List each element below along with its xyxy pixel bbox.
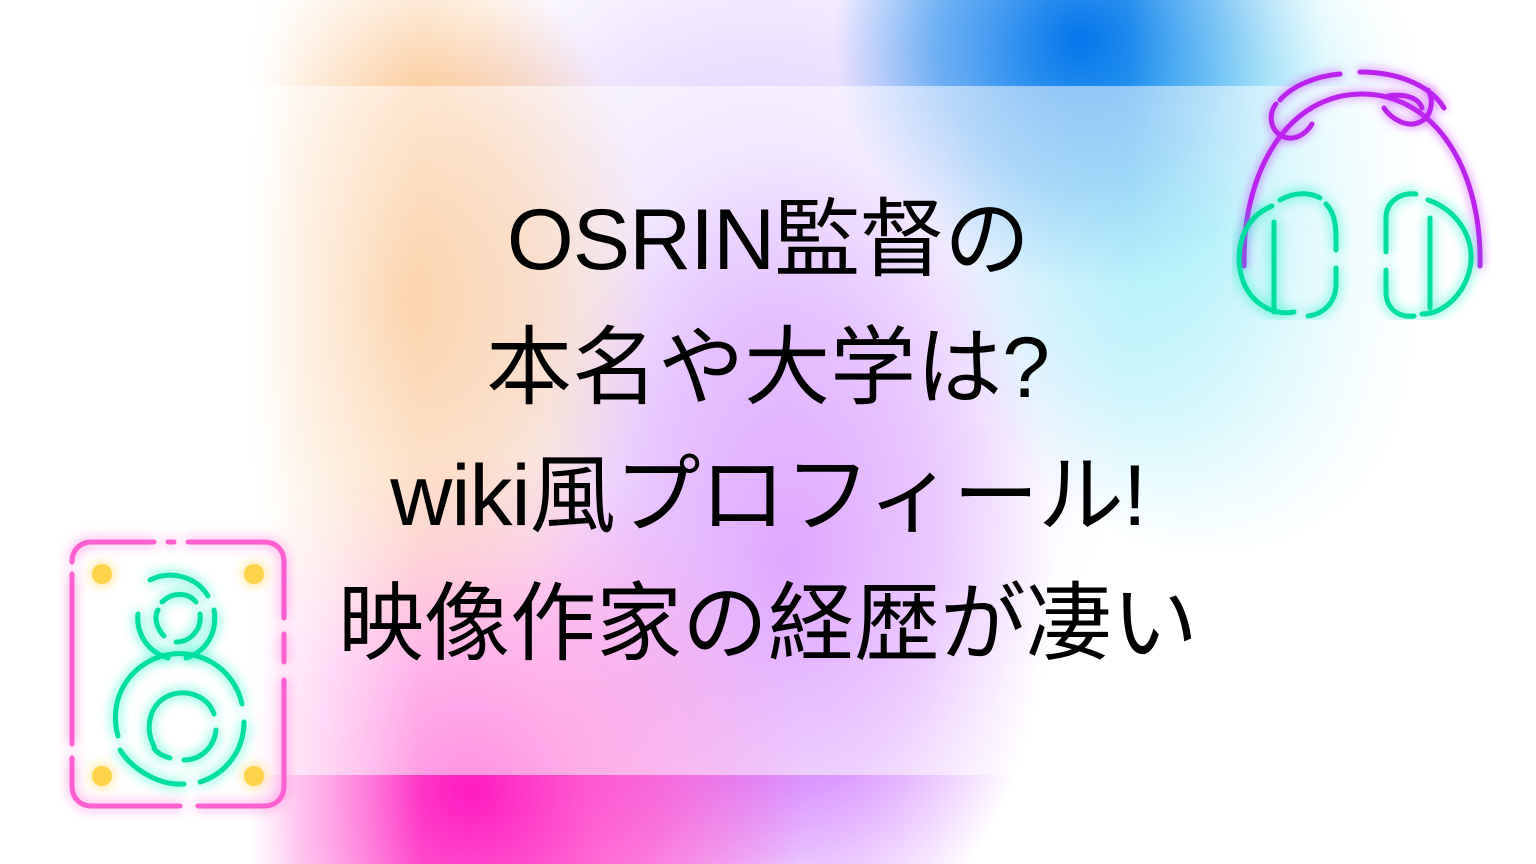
eyecatch-title: OSRIN監督の 本名や大学は? wiki風プロフィール! 映像作家の経歴が凄い: [0, 176, 1536, 688]
title-line-4: 映像作家の経歴が凄い: [0, 560, 1536, 688]
title-line-1: OSRIN監督の: [0, 176, 1536, 304]
title-line-2: 本名や大学は?: [0, 304, 1536, 432]
speaker-woofer-inner-a: [149, 693, 214, 746]
speaker-woofer-inner-b: [184, 730, 216, 760]
headphone-headband-pad-left: [1280, 74, 1340, 100]
speaker-screw-bottom-left: [92, 766, 112, 786]
eyecatch-canvas: OSRIN監督の 本名や大学は? wiki風プロフィール! 映像作家の経歴が凄い: [0, 0, 1536, 864]
speaker-woofer-outer-c: [120, 750, 184, 784]
speaker-woofer-inner-c: [154, 748, 170, 758]
speaker-screw-bottom-right: [244, 766, 264, 786]
title-line-3: wiki風プロフィール!: [0, 432, 1536, 560]
